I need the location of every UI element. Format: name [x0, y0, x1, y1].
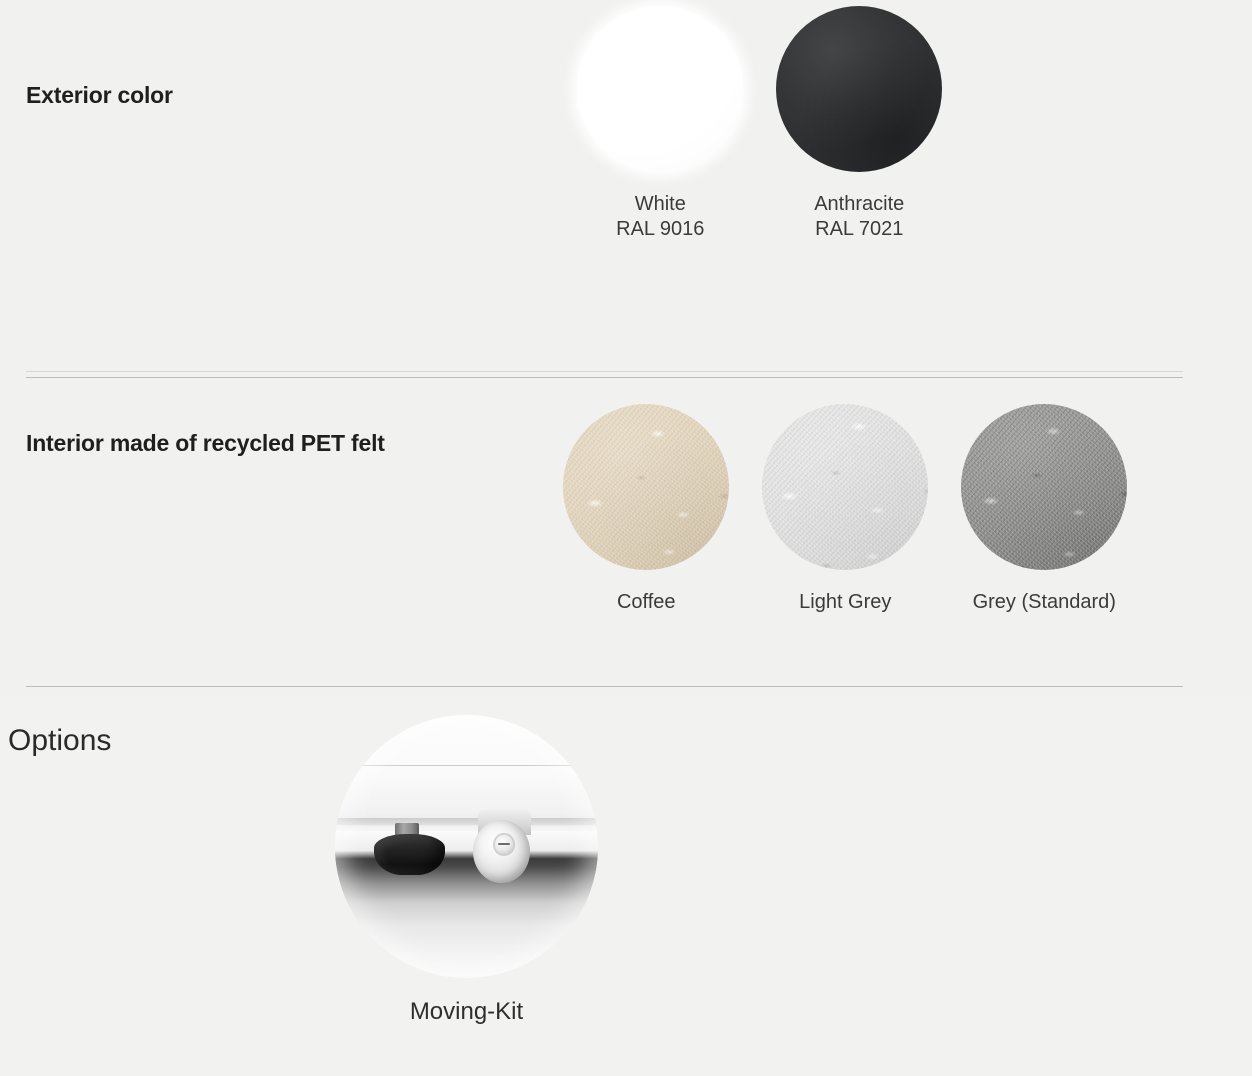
- swatch-option-light-grey[interactable]: Light Grey: [746, 404, 945, 615]
- anthracite-swatch-name: Anthracite: [814, 193, 904, 215]
- interior-felt-section: Interior made of recycled PET felt Coffe…: [0, 426, 1252, 615]
- foot-pad: [374, 834, 445, 875]
- swatch-option-coffee[interactable]: Coffee: [547, 404, 746, 615]
- interior-swatch-row: Coffee Light Grey Grey (Standard): [547, 404, 1144, 615]
- options-section: Options: [0, 697, 1252, 1076]
- cabinet-body: [335, 715, 598, 825]
- white-swatch-code: RAL 9016: [616, 218, 704, 240]
- caster-wheel: [472, 810, 538, 884]
- white-swatch-circle[interactable]: [577, 6, 743, 172]
- option-moving-kit[interactable]: Moving-Kit: [335, 715, 598, 1026]
- swatch-option-white[interactable]: White RAL 9016: [561, 6, 760, 242]
- swatch-option-grey-standard[interactable]: Grey (Standard): [945, 404, 1144, 615]
- caster-hub: [495, 835, 512, 854]
- grey-standard-swatch-circle[interactable]: [961, 404, 1127, 570]
- adjustable-foot: [374, 823, 445, 876]
- coffee-swatch-label: Coffee: [617, 590, 676, 615]
- exterior-color-title-column: Exterior color: [26, 78, 173, 110]
- section-divider-exterior-interior: [26, 377, 1183, 378]
- moving-kit-label: Moving-Kit: [410, 998, 523, 1026]
- anthracite-swatch-code: RAL 7021: [815, 218, 903, 240]
- coffee-swatch-circle[interactable]: [563, 404, 729, 570]
- cabinet-seam: [335, 765, 598, 766]
- grey-standard-swatch-label: Grey (Standard): [973, 590, 1116, 615]
- white-swatch-name: White: [635, 193, 686, 215]
- light-grey-swatch-label: Light Grey: [799, 590, 891, 615]
- light-grey-swatch-circle[interactable]: [762, 404, 928, 570]
- moving-kit-photo[interactable]: [335, 715, 598, 978]
- options-title: Options: [8, 723, 1252, 759]
- swatch-option-anthracite[interactable]: Anthracite RAL 7021: [760, 6, 959, 242]
- anthracite-swatch-circle[interactable]: [776, 6, 942, 172]
- interior-felt-title: Interior made of recycled PET felt: [26, 430, 385, 458]
- exterior-color-section: Exterior color White RAL 9016 Anthracite…: [0, 0, 1252, 242]
- section-divider-interior-options: [26, 686, 1183, 687]
- exterior-swatch-row: White RAL 9016 Anthracite RAL 7021: [561, 6, 959, 242]
- anthracite-swatch-label: Anthracite RAL 7021: [814, 192, 904, 242]
- product-configurator-page: Exterior color White RAL 9016 Anthracite…: [0, 0, 1252, 1076]
- section-divider-top: [26, 371, 1183, 372]
- exterior-color-title: Exterior color: [26, 82, 173, 110]
- white-swatch-label: White RAL 9016: [616, 192, 704, 242]
- interior-felt-title-column: Interior made of recycled PET felt: [26, 426, 385, 458]
